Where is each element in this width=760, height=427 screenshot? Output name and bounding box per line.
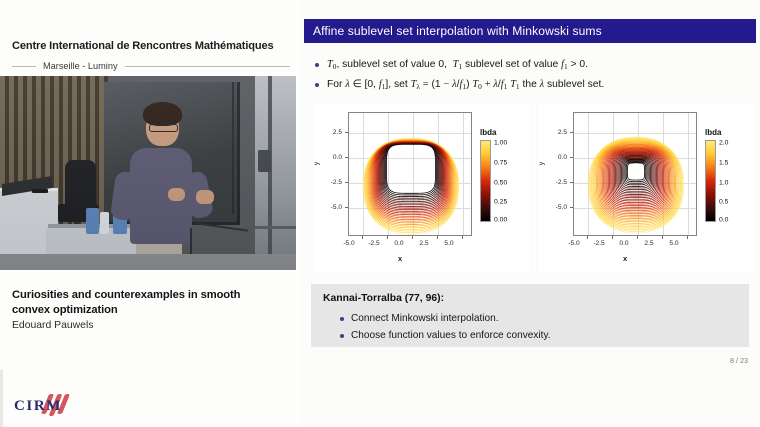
callout-heading: Kannai-Torralba (77, 96): xyxy=(323,293,444,304)
chart-left-xtick-0.0: 0.0 xyxy=(389,240,409,247)
chart-left-xtick--2.5: -2.5 xyxy=(364,240,384,247)
chart-right-xtick-0.0: 0.0 xyxy=(614,240,634,247)
location-label: Marseille - Luminy xyxy=(43,61,118,71)
cb-l-t2: 0.50 xyxy=(494,179,507,186)
callout-bullet-list: Connect Minkowski interpolation. Choose … xyxy=(337,310,737,344)
left-panel: Centre International de Rencontres Mathé… xyxy=(0,0,298,427)
page-number: 8 / 23 xyxy=(730,356,748,365)
chart-right-xtickmark-0 xyxy=(587,236,588,239)
chart-left-ytick-0.0: 0.0 xyxy=(322,154,342,161)
slide-title: Affine sublevel set interpolation with M… xyxy=(313,19,602,43)
chart-right-legend-title: lbda xyxy=(705,128,741,137)
speaker-video-feed[interactable] xyxy=(0,76,296,270)
chart-left-ytick--2.5: -2.5 xyxy=(322,179,342,186)
cb-r-t0: 2.0 xyxy=(719,140,728,147)
callout-bullet-0: Connect Minkowski interpolation. xyxy=(337,310,737,327)
chart-right-xlabel: x xyxy=(623,254,627,263)
chart-right-xtickmark-1 xyxy=(612,236,613,239)
cirm-header: Centre International de Rencontres Mathé… xyxy=(0,0,298,76)
chart-left-legend-title: lbda xyxy=(480,128,516,137)
cb-r-t2: 1.0 xyxy=(719,179,728,186)
chart-right-ytick-2.5: 2.5 xyxy=(547,129,567,136)
callout-bullet-1: Choose function values to enforce convex… xyxy=(337,327,737,344)
cb-r-t4: 0.0 xyxy=(719,216,728,223)
figure-row: y 2.5 0.0 -2.5 -5.0 xyxy=(314,104,754,272)
chart-left-xtickmark-2 xyxy=(412,236,413,239)
chart-left-xtick--5.0: -5.0 xyxy=(339,240,359,247)
chart-left-colorbar xyxy=(480,140,491,222)
chart-right-ytick--5.0: -5.0 xyxy=(547,204,567,211)
chart-right-plot-area xyxy=(573,112,697,236)
kannai-torralba-callout: Kannai-Torralba (77, 96): Connect Minkow… xyxy=(311,284,749,347)
rule-left xyxy=(12,66,36,67)
chart-right-legend: lbda 2.0 1.5 1.0 0.5 0.0 xyxy=(705,128,741,222)
rule-right xyxy=(125,66,290,67)
chart-left-colorbar-ticks: 1.00 0.75 0.50 0.25 0.00 xyxy=(494,140,516,222)
slide-title-bar: Affine sublevel set interpolation with M… xyxy=(304,19,756,43)
chart-right-ylabel: y xyxy=(538,162,545,166)
chart-left-xtickmark-3 xyxy=(437,236,438,239)
chart-left-xlabel: x xyxy=(398,254,402,263)
speaker-name: Edouard Pauwels xyxy=(12,320,93,331)
cb-l-t0: 1.00 xyxy=(494,140,507,147)
chart-left-xtickmark-4 xyxy=(462,236,463,239)
institution-name: Centre International de Rencontres Mathé… xyxy=(12,40,274,52)
talk-info: Curiosities and counterexamples in smoot… xyxy=(0,270,298,370)
slide-bullet-1: For λ ∈ [0, f1], set Tλ = (1 − λ/f1) T0 … xyxy=(312,76,752,96)
chart-left-ytick--5.0: -5.0 xyxy=(322,204,342,211)
chart-left-xtick-2.5: 2.5 xyxy=(414,240,434,247)
chart-left-xtick-5.0: 5.0 xyxy=(439,240,459,247)
chart-left-ylabel: y xyxy=(313,162,320,166)
chart-right-xtick-2.5: 2.5 xyxy=(639,240,659,247)
chart-right-xtickmark-2 xyxy=(637,236,638,239)
chart-right-ytick--2.5: -2.5 xyxy=(547,179,567,186)
chart-right-xtickmark-3 xyxy=(662,236,663,239)
chart-left-plot-area xyxy=(348,112,472,236)
slide-bullet-list: T0, sublevel set of value 0, T1 sublevel… xyxy=(312,56,752,96)
cb-r-t1: 1.5 xyxy=(719,159,728,166)
chart-left: y 2.5 0.0 -2.5 -5.0 xyxy=(314,104,529,272)
chart-left-xtickmark-1 xyxy=(387,236,388,239)
slide-panel: Affine sublevel set interpolation with M… xyxy=(300,0,760,427)
chart-right-colorbar-ticks: 2.0 1.5 1.0 0.5 0.0 xyxy=(719,140,741,222)
cb-l-t4: 0.00 xyxy=(494,216,507,223)
chart-right-ytick-0.0: 0.0 xyxy=(547,154,567,161)
cirm-logo: CIRM xyxy=(14,392,100,418)
chart-right-contours xyxy=(574,113,698,237)
chart-right-colorbar xyxy=(705,140,716,222)
presentation-recording-view: Centre International de Rencontres Mathé… xyxy=(0,0,760,427)
cb-l-t1: 0.75 xyxy=(494,159,507,166)
cb-r-t3: 0.5 xyxy=(719,199,728,206)
location-row: Marseille - Luminy xyxy=(12,60,290,72)
cb-l-t3: 0.25 xyxy=(494,199,507,206)
video-vignette xyxy=(0,76,296,270)
chart-right-xtick--5.0: -5.0 xyxy=(564,240,584,247)
chart-right-xtick--2.5: -2.5 xyxy=(589,240,609,247)
chart-right: y 2.5 0.0 -2.5 -5.0 xyxy=(539,104,754,272)
chart-right-xtickmark-4 xyxy=(687,236,688,239)
chart-left-legend: lbda 1.00 0.75 0.50 0.25 0.00 xyxy=(480,128,516,222)
talk-title: Curiosities and counterexamples in smoot… xyxy=(12,288,280,317)
chart-right-xtick-5.0: 5.0 xyxy=(664,240,684,247)
chart-left-ytick-2.5: 2.5 xyxy=(322,129,342,136)
slide-bullet-0: T0, sublevel set of value 0, T1 sublevel… xyxy=(312,56,752,76)
chart-left-contours xyxy=(349,113,473,237)
chart-left-xtickmark-0 xyxy=(362,236,363,239)
logo-wordmark: CIRM xyxy=(14,398,62,415)
